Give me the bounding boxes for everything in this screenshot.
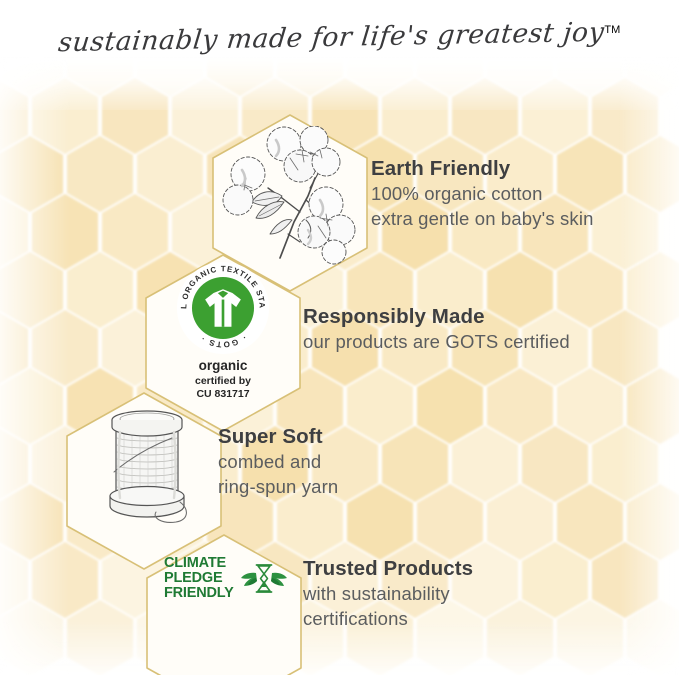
gots-certified-by-label: certified by [158, 375, 288, 388]
thread-spool-sketch-icon [84, 398, 210, 526]
trademark-mark: TM [604, 24, 620, 36]
gots-seal-icon: GLOBAL ORGANIC TEXTILE STANDARD · GOTS · [176, 261, 270, 355]
hex-frame-trusted-products [144, 532, 304, 675]
feature-title: Responsibly Made [303, 304, 570, 330]
climate-pledge-wordmark: CLIMATE PLEDGE FRIENDLY [164, 556, 234, 602]
feature-title: Super Soft [218, 424, 338, 450]
feature-title: Trusted Products [303, 556, 473, 582]
feature-text-trusted-products: Trusted Products with sustainability cer… [303, 556, 473, 632]
gots-organic-certification-logo: GLOBAL ORGANIC TEXTILE STANDARD · GOTS ·… [158, 261, 288, 401]
cotton-branch-sketch-icon [222, 126, 360, 266]
gots-organic-label: organic [158, 358, 288, 373]
feature-text-earth-friendly: Earth Friendly 100% organic cotton extra… [371, 156, 594, 232]
feature-line: ring-spun yarn [218, 475, 338, 500]
climate-pledge-friendly-logo: CLIMATE PLEDGE FRIENDLY [164, 556, 288, 602]
page-headline: sustainably made for life's greatest joy… [0, 22, 679, 53]
gots-certifier-code: CU 831717 [158, 388, 288, 401]
headline-text: sustainably made for life's greatest joy [56, 17, 605, 58]
cpf-line-1: CLIMATE [164, 556, 234, 571]
feature-line: certifications [303, 607, 473, 632]
feature-line: combed and [218, 450, 338, 475]
feature-line: extra gentle on baby's skin [371, 207, 594, 232]
feature-text-super-soft: Super Soft combed and ring-spun yarn [218, 424, 338, 500]
cpf-line-3: FRIENDLY [164, 586, 234, 601]
feature-line: with sustainability [303, 582, 473, 607]
sustainability-infographic: sustainably made for life's greatest joy… [0, 0, 679, 675]
feature-title: Earth Friendly [371, 156, 594, 182]
feature-text-responsibly-made: Responsibly Made our products are GOTS c… [303, 304, 570, 355]
cpf-line-2: PLEDGE [164, 571, 234, 586]
feature-line: 100% organic cotton [371, 182, 594, 207]
winged-hourglass-icon [240, 557, 288, 601]
feature-line: our products are GOTS certified [303, 330, 570, 355]
